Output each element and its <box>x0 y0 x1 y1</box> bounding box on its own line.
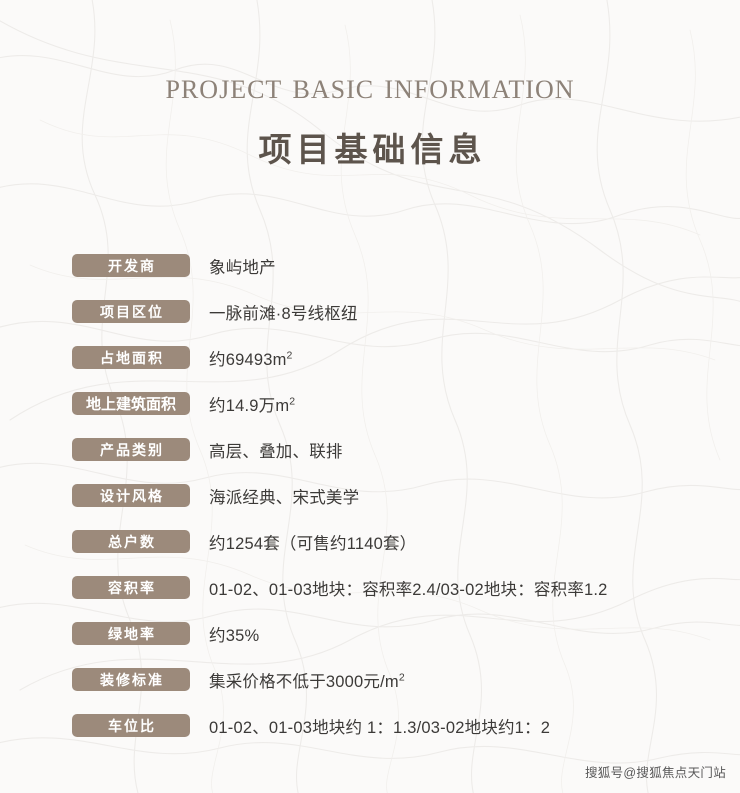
spec-label-chip: 占地面积 <box>72 346 190 369</box>
spec-value: 集采价格不低于3000元/m2 <box>209 668 405 692</box>
spec-label-chip: 车位比 <box>72 714 190 737</box>
spec-row: 地上建筑面积约14.9万m2 <box>72 381 740 427</box>
unit-superscript: 2 <box>287 349 293 361</box>
project-info-page: Project Basic Information 项目基础信息 开发商象屿地产… <box>0 0 740 793</box>
spec-row: 产品类别高层、叠加、联排 <box>72 427 740 473</box>
spec-label-chip: 总户数 <box>72 530 190 553</box>
spec-value: 约1254套（可售约1140套） <box>209 530 416 554</box>
unit-superscript: 2 <box>399 671 405 683</box>
spec-value: 约35% <box>209 622 259 646</box>
spec-value: 象屿地产 <box>209 254 276 278</box>
spec-value: 01-02、01-03地块：容积率2.4/03-02地块：容积率1.2 <box>209 576 608 600</box>
spec-label-chip: 项目区位 <box>72 300 190 323</box>
page-header: Project Basic Information 项目基础信息 <box>0 0 740 171</box>
spec-value: 约14.9万m2 <box>209 392 295 416</box>
page-title-english: Project Basic Information <box>0 68 740 107</box>
spec-label-chip: 绿地率 <box>72 622 190 645</box>
spec-value: 高层、叠加、联排 <box>209 438 343 462</box>
spec-label-chip: 产品类别 <box>72 438 190 461</box>
spec-value: 01-02、01-03地块约 1：1.3/03-02地块约1：2 <box>209 714 550 738</box>
spec-row: 开发商象屿地产 <box>72 243 740 289</box>
spec-label-chip: 地上建筑面积 <box>72 392 190 415</box>
spec-row: 装修标准集采价格不低于3000元/m2 <box>72 657 740 703</box>
spec-row: 设计风格海派经典、宋式美学 <box>72 473 740 519</box>
spec-value: 海派经典、宋式美学 <box>209 484 359 508</box>
page-title-chinese: 项目基础信息 <box>0 123 740 171</box>
spec-label-chip: 设计风格 <box>72 484 190 507</box>
spec-label-chip: 装修标准 <box>72 668 190 691</box>
spec-row: 占地面积约69493m2 <box>72 335 740 381</box>
spec-row: 项目区位一脉前滩·8号线枢纽 <box>72 289 740 335</box>
spec-value: 约69493m2 <box>209 346 293 370</box>
spec-value: 一脉前滩·8号线枢纽 <box>209 300 358 324</box>
unit-superscript: 2 <box>289 395 295 407</box>
watermark: 搜狐号@搜狐焦点天门站 <box>585 762 726 781</box>
spec-label-chip: 开发商 <box>72 254 190 277</box>
spec-label-chip: 容积率 <box>72 576 190 599</box>
spec-row: 容积率01-02、01-03地块：容积率2.4/03-02地块：容积率1.2 <box>72 565 740 611</box>
spec-row: 绿地率约35% <box>72 611 740 657</box>
spec-list: 开发商象屿地产项目区位一脉前滩·8号线枢纽占地面积约69493m2地上建筑面积约… <box>0 243 740 749</box>
spec-row: 总户数约1254套（可售约1140套） <box>72 519 740 565</box>
spec-row: 车位比01-02、01-03地块约 1：1.3/03-02地块约1：2 <box>72 703 740 749</box>
watermark-text: 搜狐号@搜狐焦点天门站 <box>585 762 726 781</box>
